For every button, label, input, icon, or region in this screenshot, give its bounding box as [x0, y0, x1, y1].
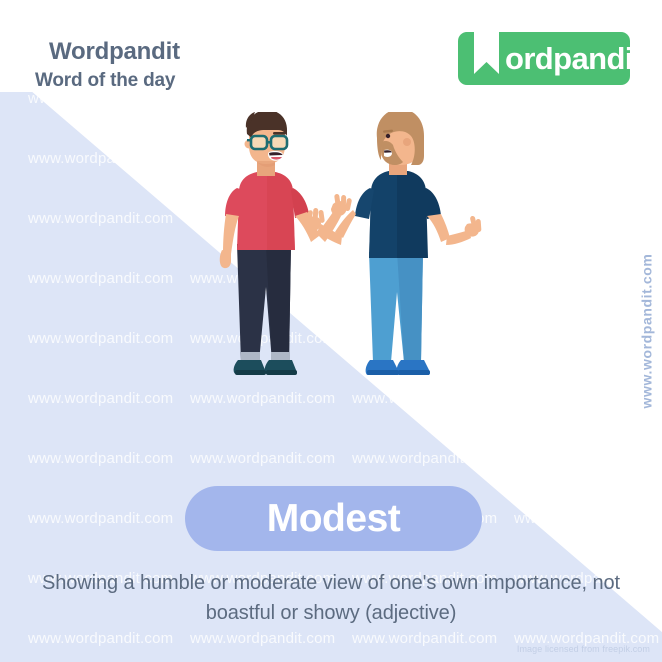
people-illustration — [195, 112, 485, 442]
bookmark-w-icon — [465, 26, 505, 88]
wordpandit-logo[interactable]: ordpandit — [458, 32, 630, 85]
page-subtitle: Word of the day — [35, 70, 175, 92]
right-person-bearded-man — [305, 112, 481, 375]
glasses-icon — [247, 136, 287, 149]
brand-title: Wordpandit — [49, 38, 180, 66]
word-badge[interactable]: Modest — [185, 486, 482, 551]
left-person-man-with-glasses — [220, 112, 352, 375]
illustration-two-men-talking — [195, 112, 485, 447]
logo-text: ordpandit — [505, 41, 643, 77]
word-text: Modest — [267, 497, 401, 541]
side-watermark: www.wordpandit.com — [639, 254, 655, 409]
image-credit: Image licensed from freepik.com — [517, 644, 650, 654]
word-of-the-day-card: www.wordpandit.com www.wordpandit.com ww… — [0, 0, 662, 662]
definition-text: Showing a humble or moderate view of one… — [22, 568, 640, 628]
